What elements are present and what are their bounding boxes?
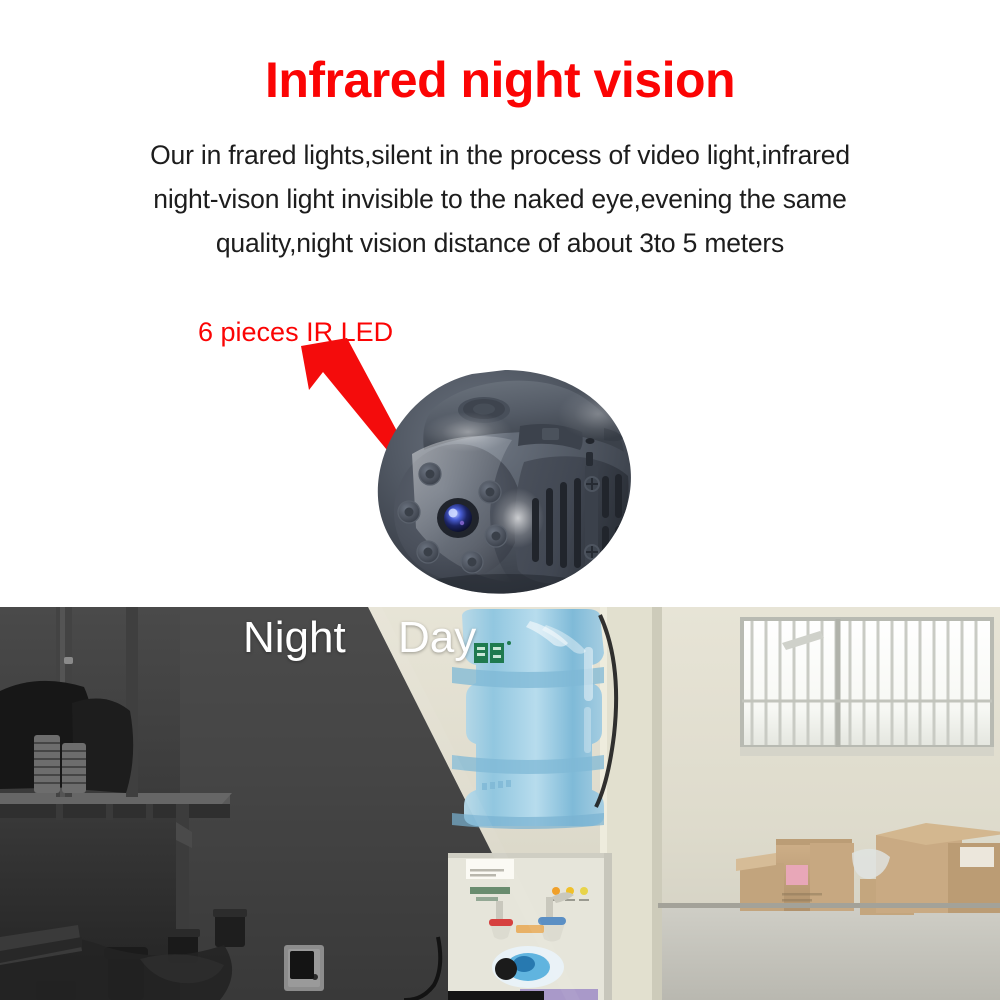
description-line-1: Our in frared lights,silent in the proce… — [46, 133, 954, 177]
description-line-3: quality,night vision distance of about 3… — [46, 221, 954, 265]
product-image-mini-camera — [372, 366, 638, 598]
night-label: Night — [243, 613, 346, 663]
night-day-comparison-photo — [0, 607, 1000, 1000]
description-block: Our in frared lights,silent in the proce… — [46, 133, 954, 265]
day-label: Day — [398, 613, 476, 663]
page-title: Infrared night vision — [0, 52, 1000, 108]
description-line-2: night-vison light invisible to the naked… — [46, 177, 954, 221]
product-marketing-page: Infrared night vision Our in frared ligh… — [0, 0, 1000, 1000]
